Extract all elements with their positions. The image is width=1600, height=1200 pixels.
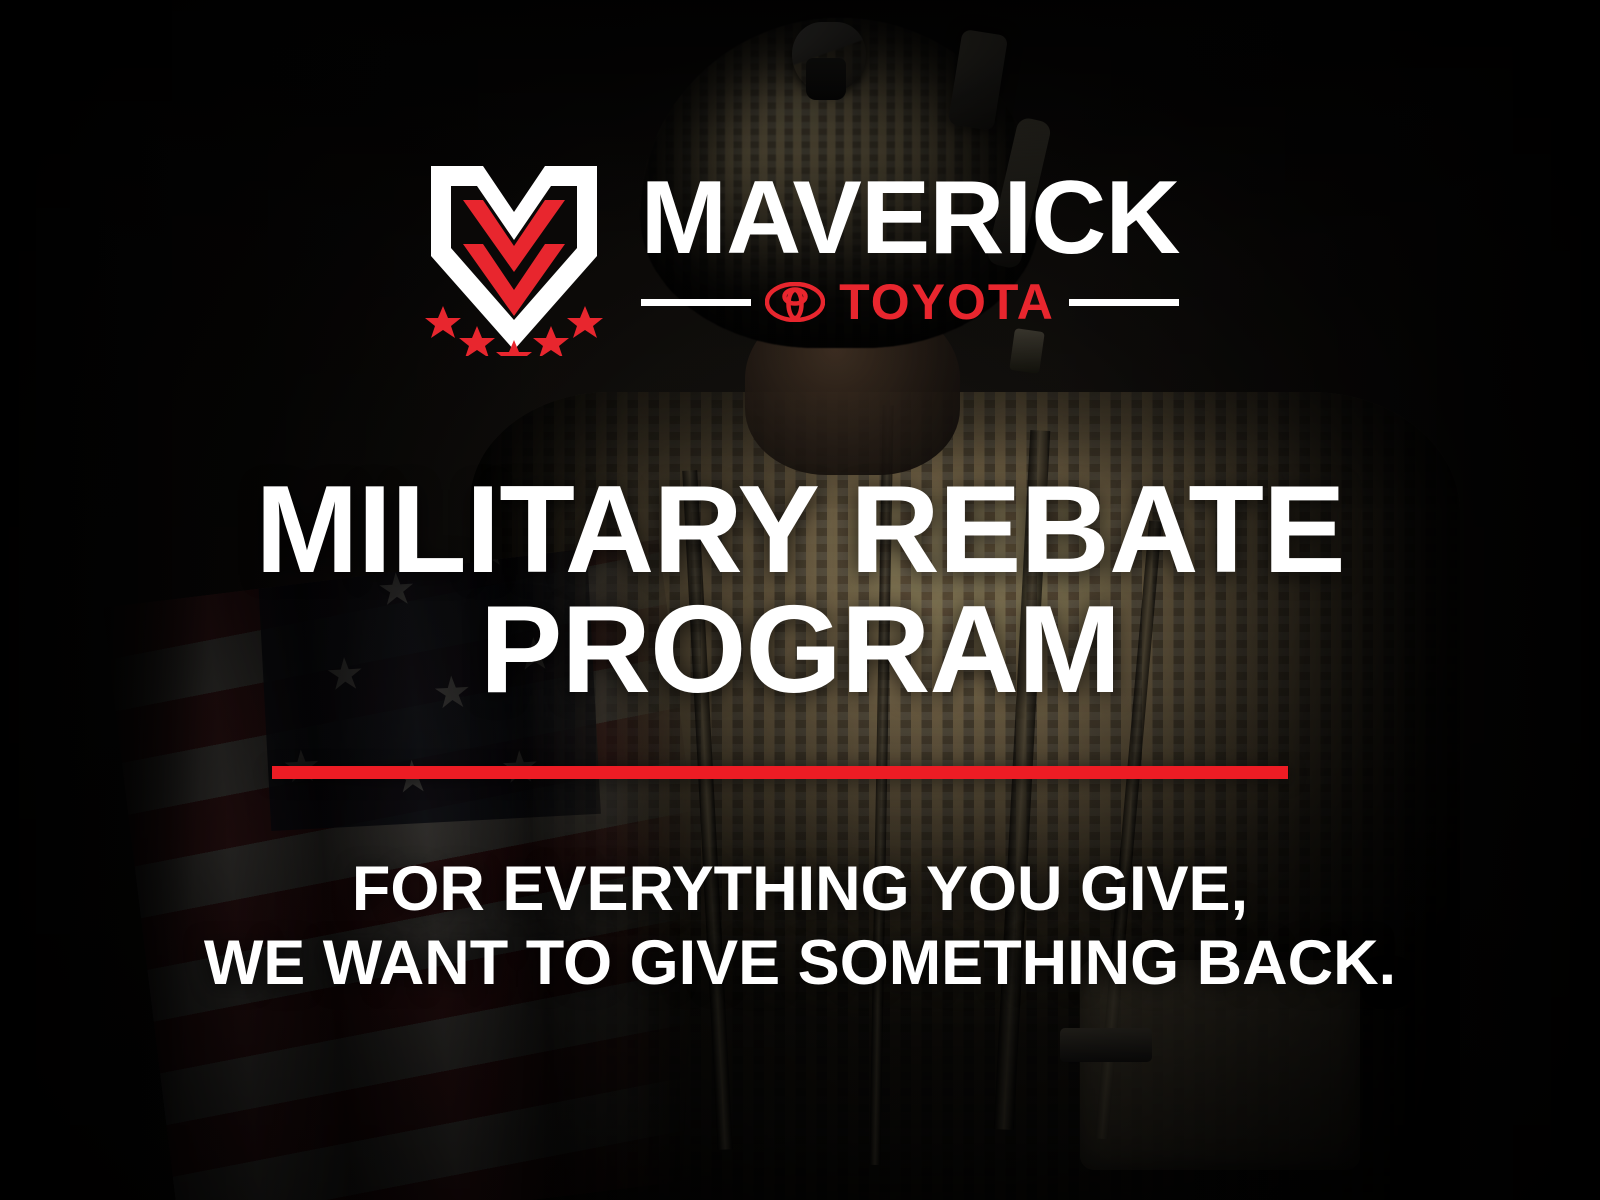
sub-brand-name: TOYOTA xyxy=(839,277,1055,327)
toyota-badge-row: TOYOTA xyxy=(641,277,1180,327)
red-divider-rule xyxy=(272,766,1288,779)
page-title: MILITARY REBATE PROGRAM xyxy=(0,470,1600,711)
tagline: FOR EVERYTHING YOU GIVE, WE WANT TO GIVE… xyxy=(0,852,1600,1001)
brand-logo-lockup: MAVERICK TOYOTA xyxy=(0,160,1600,356)
chevron-shield-emblem-icon xyxy=(421,160,607,356)
tagline-line-1: FOR EVERYTHING YOU GIVE, xyxy=(352,854,1248,924)
brand-name: MAVERICK xyxy=(641,174,1180,263)
badge-rule-left xyxy=(641,299,752,306)
toyota-ellipse-icon xyxy=(765,282,825,322)
tagline-line-2: WE WANT TO GIVE SOMETHING BACK. xyxy=(0,926,1600,1000)
headline-line-2: PROGRAM xyxy=(0,590,1600,710)
wordmark: MAVERICK TOYOTA xyxy=(641,160,1180,327)
banner-content: MAVERICK TOYOTA MILITARY REBATE xyxy=(0,0,1600,1200)
headline-line-1: MILITARY REBATE xyxy=(255,461,1345,599)
military-rebate-banner: ★ ★ ★ ★ ★ ★ ★ ★ ★ xyxy=(0,0,1600,1200)
badge-rule-right xyxy=(1069,299,1180,306)
